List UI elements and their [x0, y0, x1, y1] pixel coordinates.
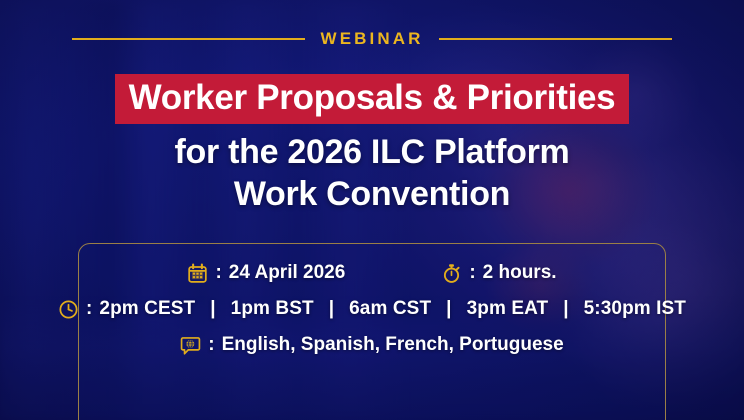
detail-time-ist: 5:30pm IST — [584, 298, 686, 320]
details-list: : 24 April 2026 — [79, 262, 665, 356]
detail-time-cest: 2pm CEST — [99, 298, 195, 320]
eyebrow-label: WEBINAR — [321, 30, 424, 47]
details-row-date-duration: : 24 April 2026 — [79, 262, 665, 284]
detail-languages: : English, Spanish, French, Portuguese — [180, 334, 563, 356]
detail-date-separator: : — [215, 262, 221, 284]
detail-times-separator: : — [86, 298, 92, 320]
eyebrow-rule-left — [72, 38, 305, 40]
clock-icon — [58, 299, 79, 320]
title-line-2: for the 2026 ILC Platform — [0, 133, 744, 171]
detail-languages-value: English, Spanish, French, Portuguese — [222, 334, 564, 356]
detail-times-divider-1: | — [202, 298, 223, 320]
webinar-poster: WEBINAR Worker Proposals & Priorities fo… — [0, 0, 744, 420]
title-line-1-highlight: Worker Proposals & Priorities — [115, 74, 630, 124]
poster-title: Worker Proposals & Priorities for the 20… — [0, 74, 744, 213]
translate-bubble-icon — [180, 335, 201, 356]
detail-time-cst: 6am CST — [349, 298, 431, 320]
detail-date: : 24 April 2026 — [187, 262, 345, 284]
stopwatch-icon — [441, 263, 462, 284]
eyebrow-row: WEBINAR — [72, 30, 672, 47]
poster-content: WEBINAR Worker Proposals & Priorities fo… — [0, 0, 744, 420]
details-row-languages: : English, Spanish, French, Portuguese — [79, 334, 665, 356]
calendar-icon — [187, 263, 208, 284]
detail-times: : 2pm CEST | 1pm BST | 6am CST | 3pm EAT… — [58, 298, 686, 320]
details-row-times: : 2pm CEST | 1pm BST | 6am CST | 3pm EAT… — [79, 298, 665, 320]
detail-time-bst: 1pm BST — [231, 298, 314, 320]
details-panel: : 24 April 2026 — [78, 243, 666, 420]
detail-languages-separator: : — [208, 334, 214, 356]
eyebrow-rule-right — [439, 38, 672, 40]
title-line-3: Work Convention — [0, 175, 744, 213]
detail-duration-separator: : — [469, 262, 475, 284]
detail-duration: : 2 hours. — [441, 262, 556, 284]
detail-times-divider-4: | — [555, 298, 576, 320]
detail-times-divider-3: | — [438, 298, 459, 320]
detail-times-divider-2: | — [321, 298, 342, 320]
detail-time-eat: 3pm EAT — [467, 298, 549, 320]
detail-date-value: 24 April 2026 — [229, 262, 346, 284]
detail-duration-value: 2 hours. — [483, 262, 557, 284]
